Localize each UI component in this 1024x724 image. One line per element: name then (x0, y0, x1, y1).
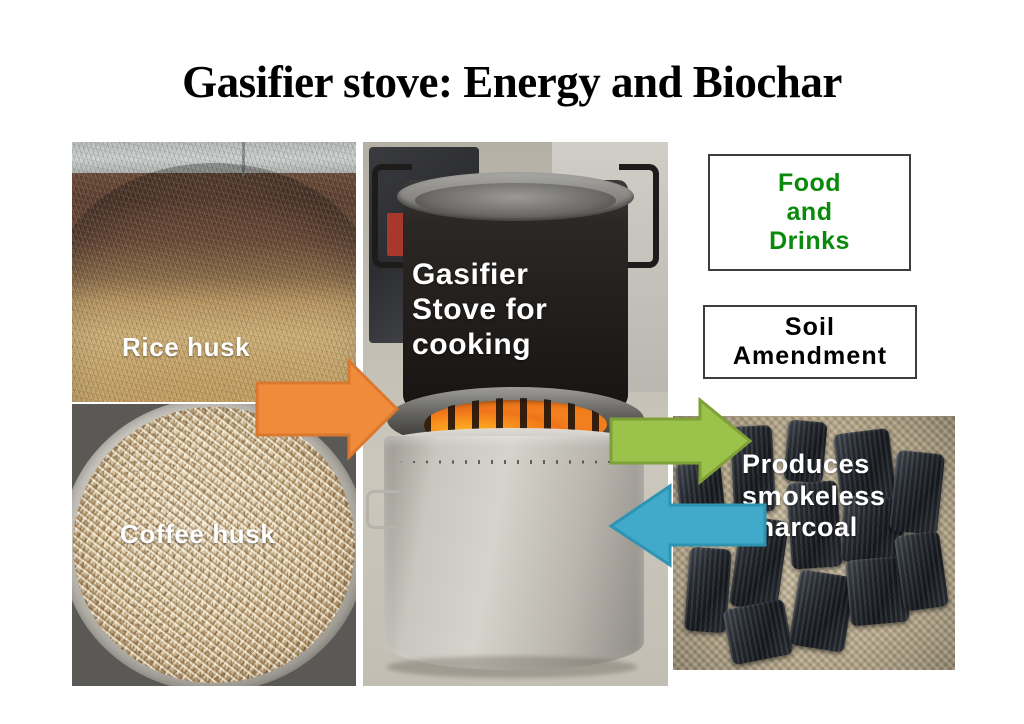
arrow-stove-to-soil-icon (608, 397, 753, 485)
arrow-rice-to-stove-icon (253, 357, 401, 461)
charcoal-briquette (889, 449, 945, 535)
pot-mouth (415, 183, 616, 218)
rice-husk-label: Rice husk (122, 332, 250, 362)
ground-shadow (387, 656, 637, 678)
charcoal-briquette (722, 599, 794, 666)
stove-body (384, 436, 643, 670)
stove-side-handle (366, 490, 400, 529)
callout-food-and-drinks: Food and Drinks (708, 154, 911, 271)
gasifier-stove-label: Gasifier Stove for cooking (412, 257, 547, 362)
coffee-husk-label: Coffee husk (120, 519, 275, 549)
callout-food-and-drinks-text: Food and Drinks (769, 169, 850, 256)
callout-soil-amendment: Soil Amendment (703, 305, 917, 379)
page-title: Gasifier stove: Energy and Biochar (0, 56, 1024, 108)
callout-soil-amendment-text: Soil Amendment (733, 313, 887, 371)
arrow-charcoal-to-stove-icon (608, 483, 768, 568)
